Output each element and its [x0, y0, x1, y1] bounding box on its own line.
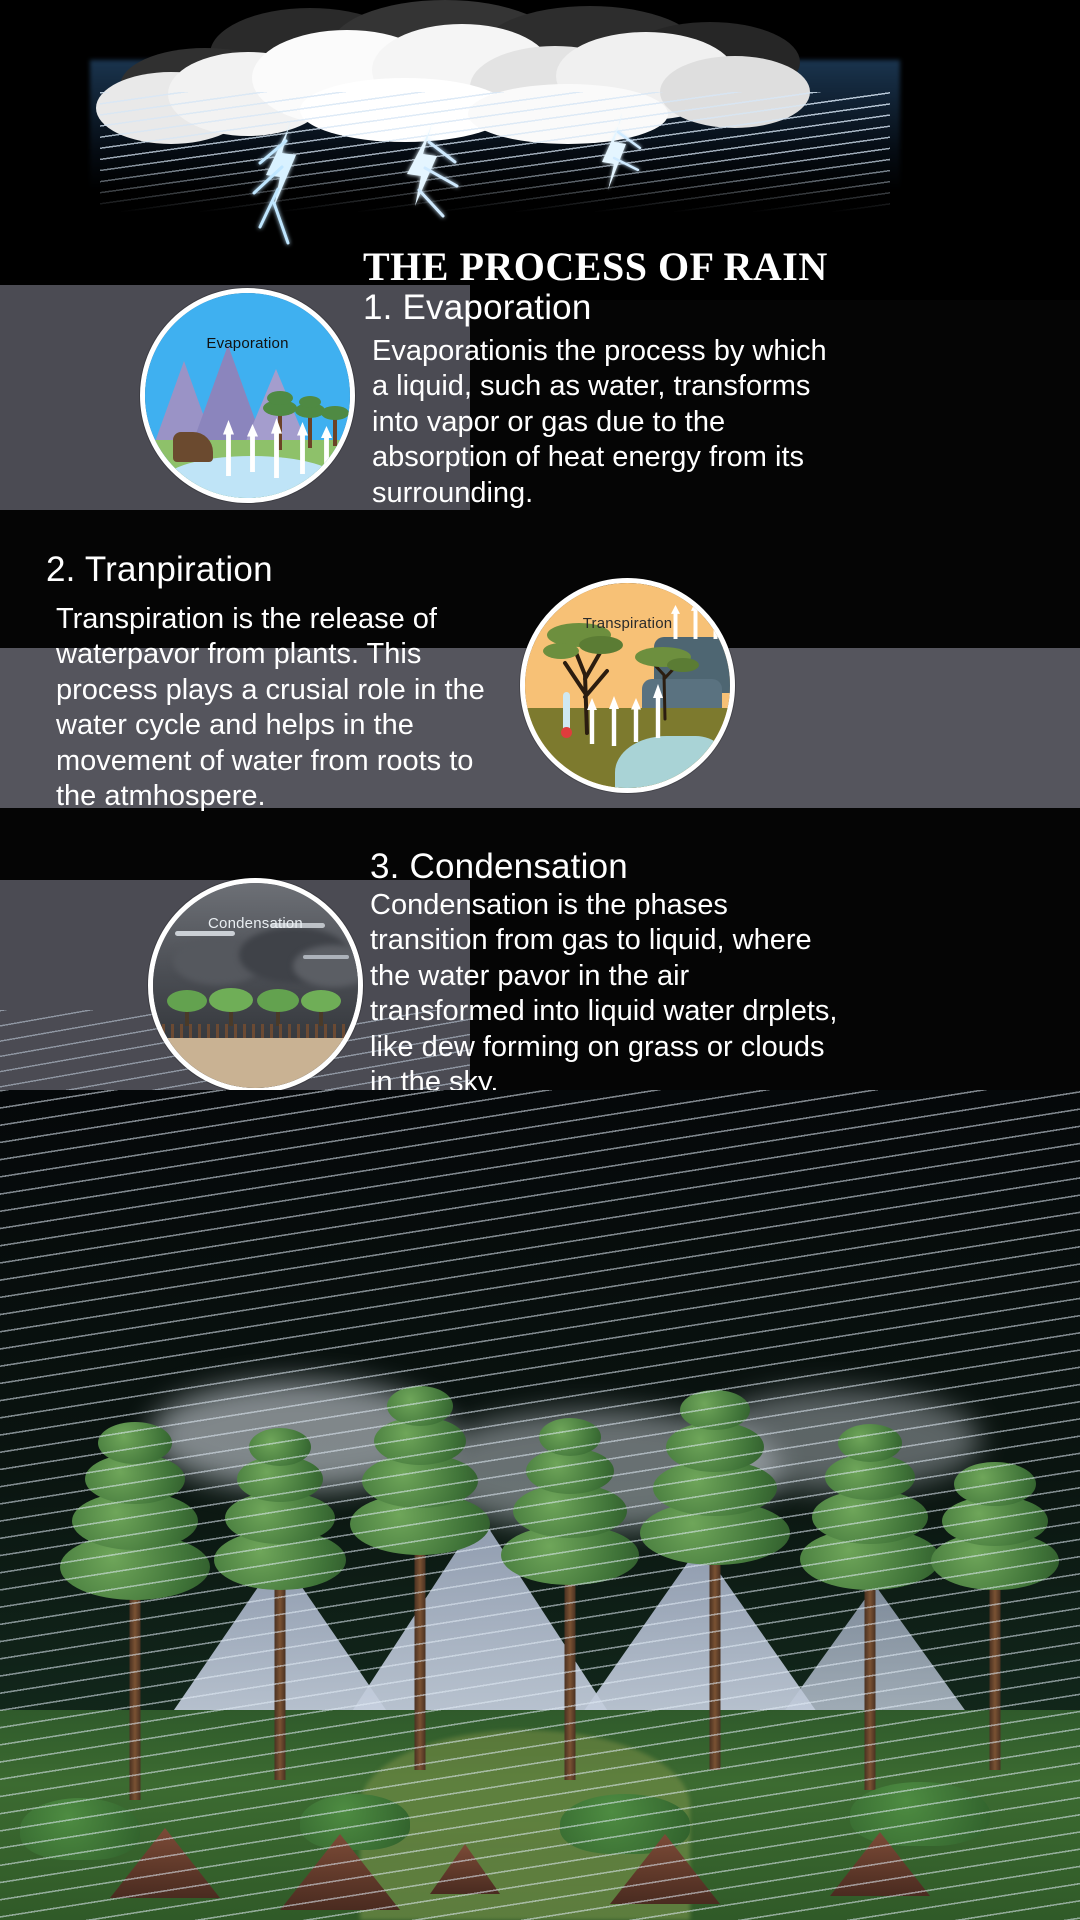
thermometer-icon [563, 692, 570, 732]
rain-overlay [0, 1090, 1080, 1920]
ground [153, 1038, 358, 1088]
evaporation-scene [145, 293, 350, 498]
lightning-bolt-icon [385, 120, 495, 240]
rainy-forest-illustration [0, 1090, 1080, 1920]
tree-icon [257, 984, 299, 1026]
infographic-poster: THE PROCESS OF RAIN 1. Evaporation Evapo… [0, 0, 1080, 1920]
cloud-streak-icon [303, 955, 349, 959]
page-title: THE PROCESS OF RAIN [363, 243, 1003, 290]
evaporation-circle-label: Evaporation [145, 335, 350, 352]
rain-streaks [100, 92, 890, 212]
transpiration-scene [525, 583, 730, 788]
condensation-illustration: Condensation [148, 878, 363, 1093]
tree-icon [209, 982, 253, 1026]
thermometer-bulb-icon [561, 727, 572, 738]
section-1-body: Evaporationis the process by which a liq… [372, 334, 842, 511]
transpiration-circle-label: Transpiration [525, 615, 730, 632]
lightning-bolt-icon [580, 112, 670, 222]
tree-icon [263, 388, 297, 450]
lightning-bolt-icon [230, 115, 340, 265]
condensation-circle-label: Condensation [153, 915, 358, 932]
section-1-heading: 1. Evaporation [363, 288, 592, 328]
section-2-heading: 2. Tranpiration [46, 550, 273, 590]
tree-icon [301, 986, 341, 1026]
evaporation-illustration: Evaporation [140, 288, 355, 503]
transpiration-illustration: Transpiration [520, 578, 735, 793]
section-3-heading: 3. Condensation [370, 847, 628, 887]
condensation-scene [153, 883, 358, 1088]
water-body [615, 736, 730, 788]
section-3-body: Condensation is the phases transition fr… [370, 888, 850, 1100]
cloud-dark-icon [293, 945, 363, 987]
tree-icon [167, 986, 207, 1026]
section-2-body: Transpiration is the release of waterpav… [56, 602, 516, 814]
